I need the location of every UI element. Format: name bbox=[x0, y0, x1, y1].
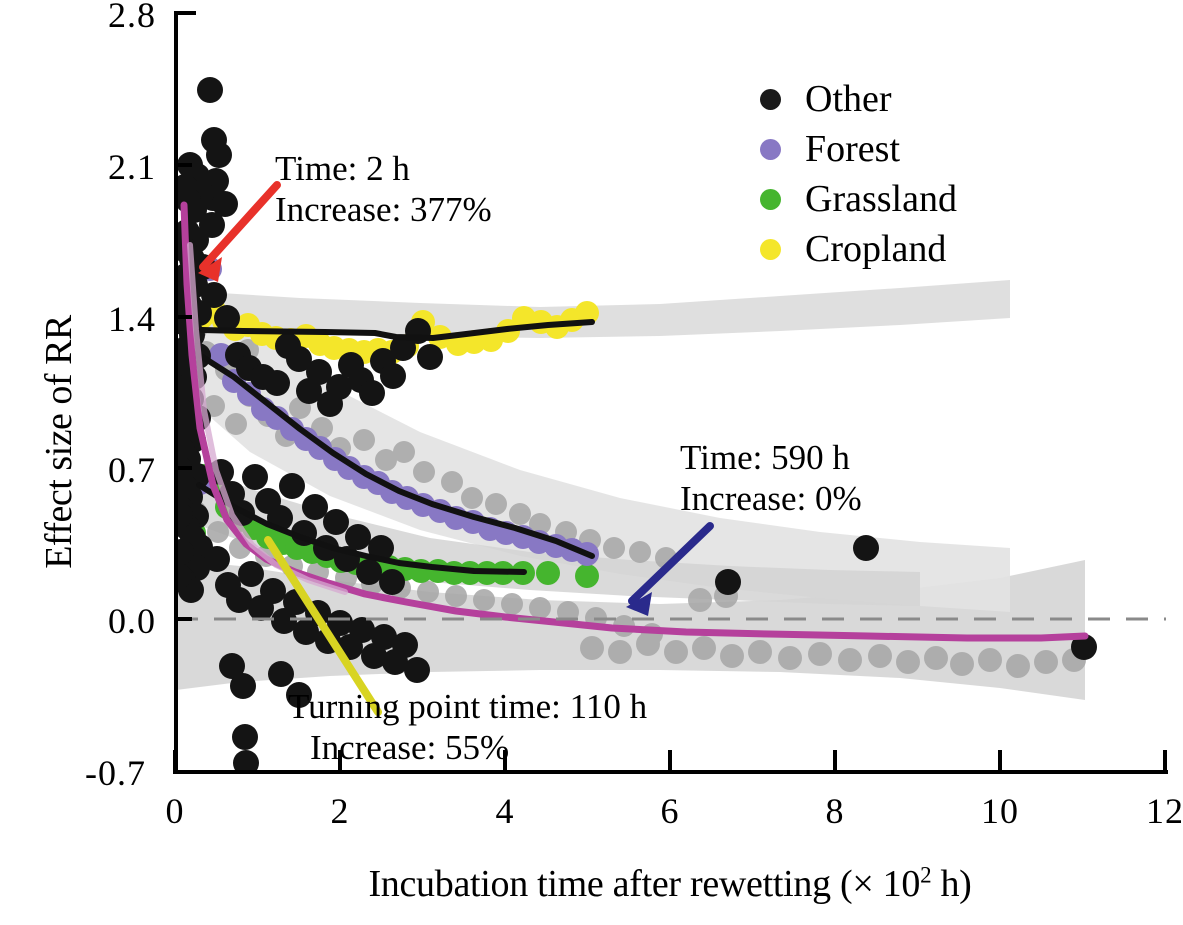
legend-marker-other-icon bbox=[760, 89, 781, 110]
legend-item-forest[interactable]: Forest bbox=[760, 124, 957, 174]
legend-marker-forest-icon bbox=[760, 139, 781, 160]
annotation-turning-point: Turning point time: 110 h Increase: 55% bbox=[288, 686, 647, 769]
annotation-turning-point-line2: Increase: 55% bbox=[288, 727, 647, 768]
y-tick-label-0-0: 0.0 bbox=[38, 600, 156, 642]
annotation-time-590h-line2: Increase: 0% bbox=[680, 478, 862, 519]
legend-marker-grassland-icon bbox=[760, 189, 781, 210]
x-tick-label-2: 2 bbox=[295, 790, 385, 832]
x-tick-label-12: 12 bbox=[1120, 790, 1183, 832]
y-tick-label-2-1: 2.1 bbox=[38, 146, 156, 188]
legend-label-cropland: Cropland bbox=[805, 230, 946, 268]
legend-item-grassland[interactable]: Grassland bbox=[760, 174, 957, 224]
annotation-time-2h: Time: 2 h Increase: 377% bbox=[275, 148, 492, 231]
y-axis-title: Effect size of RR bbox=[37, 287, 81, 597]
annotation-time-590h-line1: Time: 590 h bbox=[680, 437, 862, 478]
x-tick-label-6: 6 bbox=[625, 790, 715, 832]
legend-item-cropland[interactable]: Cropland bbox=[760, 224, 957, 274]
x-tick-label-0: 0 bbox=[130, 790, 220, 832]
annotation-time-590h: Time: 590 h Increase: 0% bbox=[680, 437, 862, 520]
x-tick-label-10: 10 bbox=[955, 790, 1045, 832]
x-tick-label-4: 4 bbox=[460, 790, 550, 832]
x-tick-label-8: 8 bbox=[790, 790, 880, 832]
legend-label-other: Other bbox=[805, 80, 892, 118]
annotation-time-2h-line1: Time: 2 h bbox=[275, 148, 492, 189]
x-axis-title-text: Incubation time after rewetting (× 102 h… bbox=[368, 863, 971, 905]
legend: Other Forest Grassland Cropland bbox=[760, 74, 957, 274]
y-tick-label-neg-0-7: -0.7 bbox=[28, 752, 146, 794]
legend-marker-cropland-icon bbox=[760, 239, 781, 260]
legend-label-grassland: Grassland bbox=[805, 180, 957, 218]
legend-item-other[interactable]: Other bbox=[760, 74, 957, 124]
chart-figure: 2.8 2.1 1.4 0.7 0.0 -0.7 0 2 4 6 8 10 12… bbox=[0, 0, 1183, 925]
x-axis-title: Incubation time after rewetting (× 102 h… bbox=[175, 862, 1165, 906]
scatter-plot-canvas bbox=[0, 0, 1183, 925]
y-tick-label-2-8: 2.8 bbox=[38, 0, 156, 36]
legend-label-forest: Forest bbox=[805, 130, 900, 168]
annotation-turning-point-line1: Turning point time: 110 h bbox=[288, 686, 647, 727]
annotation-time-2h-line2: Increase: 377% bbox=[275, 189, 492, 230]
